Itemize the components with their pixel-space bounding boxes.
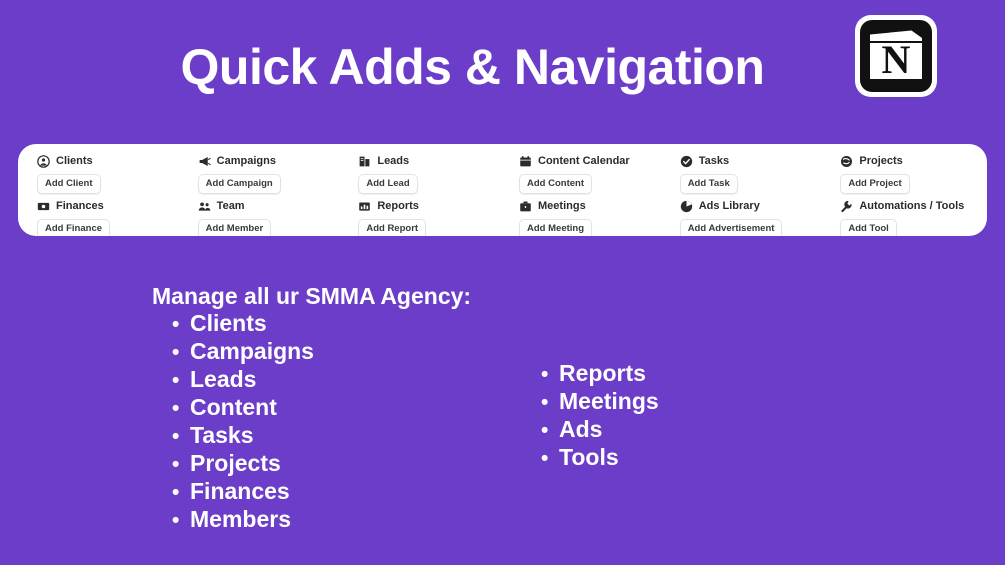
quick-add-group-content-calendar: Content Calendar Add Content xyxy=(519,151,666,196)
summary-list-left: •Clients •Campaigns •Leads •Content •Tas… xyxy=(172,310,314,534)
bullet-icon: • xyxy=(541,390,559,416)
add-report-button[interactable]: Add Report xyxy=(358,219,426,236)
quick-add-group-team: Team Add Member xyxy=(198,196,345,236)
quick-add-label-meetings[interactable]: Meetings xyxy=(519,196,666,216)
notion-logo: N xyxy=(851,11,941,101)
bullet-icon: • xyxy=(172,452,190,478)
quick-add-column: Clients Add Client Finances Add Finance xyxy=(18,151,184,236)
list-item-label: Finances xyxy=(190,478,290,504)
quick-add-group-ads-library: Ads Library Add Advertisement xyxy=(680,196,827,236)
list-item: •Projects xyxy=(172,450,314,478)
add-tool-button[interactable]: Add Tool xyxy=(840,219,896,236)
user-circle-icon xyxy=(37,155,50,168)
add-content-button[interactable]: Add Content xyxy=(519,174,592,194)
quick-add-column: Campaigns Add Campaign Team Add Member xyxy=(184,151,345,236)
list-item-label: Meetings xyxy=(559,388,659,414)
quick-add-label-content-calendar[interactable]: Content Calendar xyxy=(519,151,666,171)
quick-add-label-leads[interactable]: Leads xyxy=(358,151,505,171)
quick-add-label-ads-library[interactable]: Ads Library xyxy=(680,196,827,216)
bar-chart-icon xyxy=(358,200,371,213)
briefcase-icon xyxy=(519,200,532,213)
list-item: •Ads xyxy=(541,416,659,444)
quick-add-label-campaigns[interactable]: Campaigns xyxy=(198,151,345,171)
list-item-label: Ads xyxy=(559,416,602,442)
quick-add-group-leads: Leads Add Lead xyxy=(358,151,505,196)
bullet-icon: • xyxy=(172,480,190,506)
list-item: •Finances xyxy=(172,478,314,506)
quick-add-label-text: Clients xyxy=(56,155,93,167)
quick-add-group-clients: Clients Add Client xyxy=(37,151,184,196)
bullet-icon: • xyxy=(172,508,190,534)
people-icon xyxy=(198,200,211,213)
svg-text:N: N xyxy=(882,37,911,82)
document-icon xyxy=(358,155,371,168)
add-member-button[interactable]: Add Member xyxy=(198,219,272,236)
list-item: •Clients xyxy=(172,310,314,338)
quick-add-label-text: Content Calendar xyxy=(538,155,630,167)
quick-add-group-tasks: Tasks Add Task xyxy=(680,151,827,196)
add-task-button[interactable]: Add Task xyxy=(680,174,738,194)
quick-add-group-campaigns: Campaigns Add Campaign xyxy=(198,151,345,196)
page-header: Quick Adds & Navigation N xyxy=(0,0,1005,132)
list-item: •Members xyxy=(172,506,314,534)
check-circle-icon xyxy=(680,155,693,168)
list-item-label: Tasks xyxy=(190,422,254,448)
list-item: •Meetings xyxy=(541,388,659,416)
quick-add-label-text: Ads Library xyxy=(699,200,760,212)
quick-add-column: Projects Add Project Automations / Tools… xyxy=(826,151,987,236)
quick-add-label-text: Automations / Tools xyxy=(859,200,964,212)
list-item-label: Clients xyxy=(190,310,267,336)
add-advertisement-button[interactable]: Add Advertisement xyxy=(680,219,783,236)
quick-add-group-automations-tools: Automations / Tools Add Tool xyxy=(840,196,987,236)
bullet-icon: • xyxy=(172,340,190,366)
bullet-icon: • xyxy=(172,396,190,422)
list-item: •Campaigns xyxy=(172,338,314,366)
quick-add-label-text: Projects xyxy=(859,155,902,167)
quick-add-group-finances: Finances Add Finance xyxy=(37,196,184,236)
summary-heading: Manage all ur SMMA Agency: xyxy=(152,283,471,310)
quick-add-column: Leads Add Lead Reports Add Report xyxy=(344,151,505,236)
quick-add-column: Tasks Add Task Ads Library Add Advertise… xyxy=(666,151,827,236)
add-campaign-button[interactable]: Add Campaign xyxy=(198,174,281,194)
quick-add-group-projects: Projects Add Project xyxy=(840,151,987,196)
layers-icon xyxy=(840,155,853,168)
list-item-label: Leads xyxy=(190,366,256,392)
list-item-label: Tools xyxy=(559,444,619,470)
quick-add-label-finances[interactable]: Finances xyxy=(37,196,184,216)
list-item-label: Members xyxy=(190,506,291,532)
quick-add-label-text: Reports xyxy=(377,200,419,212)
quick-add-label-text: Team xyxy=(217,200,245,212)
quick-add-label-automations-tools[interactable]: Automations / Tools xyxy=(840,196,987,216)
bullet-icon: • xyxy=(172,424,190,450)
quick-add-label-clients[interactable]: Clients xyxy=(37,151,184,171)
bullet-icon: • xyxy=(541,418,559,444)
list-item: •Tools xyxy=(541,444,659,472)
quick-add-group-meetings: Meetings Add Meeting xyxy=(519,196,666,236)
list-item: •Leads xyxy=(172,366,314,394)
add-meeting-button[interactable]: Add Meeting xyxy=(519,219,592,236)
quick-add-label-tasks[interactable]: Tasks xyxy=(680,151,827,171)
quick-add-label-reports[interactable]: Reports xyxy=(358,196,505,216)
quick-add-label-text: Leads xyxy=(377,155,409,167)
list-item-label: Reports xyxy=(559,360,646,386)
quick-add-card: Clients Add Client Finances Add Finance … xyxy=(18,144,987,236)
quick-add-label-text: Meetings xyxy=(538,200,586,212)
pie-chart-icon xyxy=(680,200,693,213)
quick-add-label-text: Tasks xyxy=(699,155,729,167)
bullet-icon: • xyxy=(541,446,559,472)
add-client-button[interactable]: Add Client xyxy=(37,174,101,194)
bullet-icon: • xyxy=(172,368,190,394)
list-item-label: Content xyxy=(190,394,277,420)
megaphone-icon xyxy=(198,155,211,168)
list-item: •Tasks xyxy=(172,422,314,450)
list-item-label: Campaigns xyxy=(190,338,314,364)
quick-add-column: Content Calendar Add Content Meetings Ad… xyxy=(505,151,666,236)
wrench-icon xyxy=(840,200,853,213)
summary-section: Manage all ur SMMA Agency: •Clients •Cam… xyxy=(0,272,1005,565)
list-item: •Reports xyxy=(541,360,659,388)
list-item: •Content xyxy=(172,394,314,422)
money-bill-icon xyxy=(37,200,50,213)
page-title: Quick Adds & Navigation xyxy=(0,36,945,98)
quick-add-label-text: Finances xyxy=(56,200,104,212)
summary-list-right: •Reports •Meetings •Ads •Tools xyxy=(541,360,659,472)
add-lead-button[interactable]: Add Lead xyxy=(358,174,417,194)
bullet-icon: • xyxy=(172,312,190,338)
quick-add-label-team[interactable]: Team xyxy=(198,196,345,216)
list-item-label: Projects xyxy=(190,450,281,476)
add-project-button[interactable]: Add Project xyxy=(840,174,909,194)
quick-add-group-reports: Reports Add Report xyxy=(358,196,505,236)
bullet-icon: • xyxy=(541,362,559,388)
calendar-icon xyxy=(519,155,532,168)
add-finance-button[interactable]: Add Finance xyxy=(37,219,110,236)
quick-add-label-text: Campaigns xyxy=(217,155,276,167)
quick-add-label-projects[interactable]: Projects xyxy=(840,151,987,171)
